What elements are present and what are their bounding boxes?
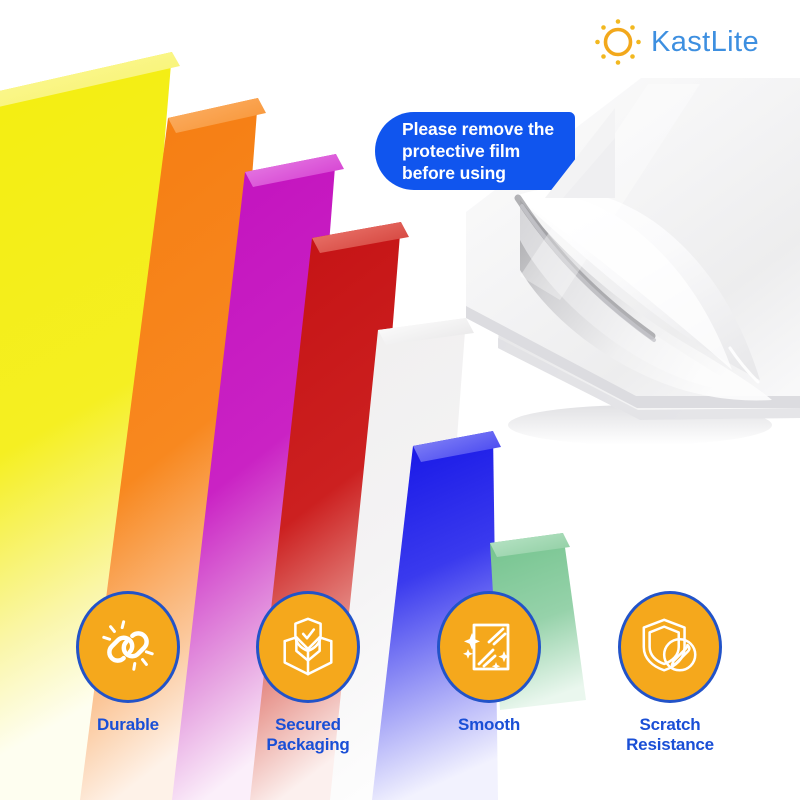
feature-smooth[interactable]: Smooth (399, 591, 579, 735)
feature-scratch-resistance[interactable]: Scratch Resistance (580, 591, 760, 756)
callout-line-3: before using (402, 162, 554, 184)
shield-blade-icon (637, 614, 703, 680)
feature-label: Secured Packaging (218, 715, 398, 756)
brand-wordmark: KastLite (651, 26, 759, 59)
feature-badge (76, 591, 180, 703)
product-marketing-image: Please remove the protective film before… (0, 0, 800, 800)
callout-text: Please remove the protective film before… (375, 118, 554, 184)
callout-line-2: protective film (402, 140, 554, 162)
feature-durable[interactable]: Durable (38, 591, 218, 735)
feature-label-line-1: Durable (38, 715, 218, 735)
feature-label-line-1: Smooth (399, 715, 579, 735)
feature-label-line-2: Packaging (218, 735, 398, 755)
feature-label-line-1: Secured (218, 715, 398, 735)
brand-logo: KastLite (592, 14, 777, 70)
feature-row: Durable Secured Packag (0, 585, 800, 785)
feature-label-line-2: Resistance (580, 735, 760, 755)
feature-badge (256, 591, 360, 703)
feature-badge (437, 591, 541, 703)
feature-badge (618, 591, 722, 703)
sun-icon (592, 16, 644, 68)
sparkle-panel-icon (457, 615, 521, 679)
chain-link-icon (97, 616, 159, 678)
feature-label: Smooth (399, 715, 579, 735)
feature-label: Durable (38, 715, 218, 735)
callout-badge: Please remove the protective film before… (375, 112, 575, 190)
callout-line-1: Please remove the (402, 118, 554, 140)
shield-box-icon (275, 614, 341, 680)
feature-label-line-1: Scratch (580, 715, 760, 735)
feature-label: Scratch Resistance (580, 715, 760, 756)
feature-secured-packaging[interactable]: Secured Packaging (218, 591, 398, 756)
